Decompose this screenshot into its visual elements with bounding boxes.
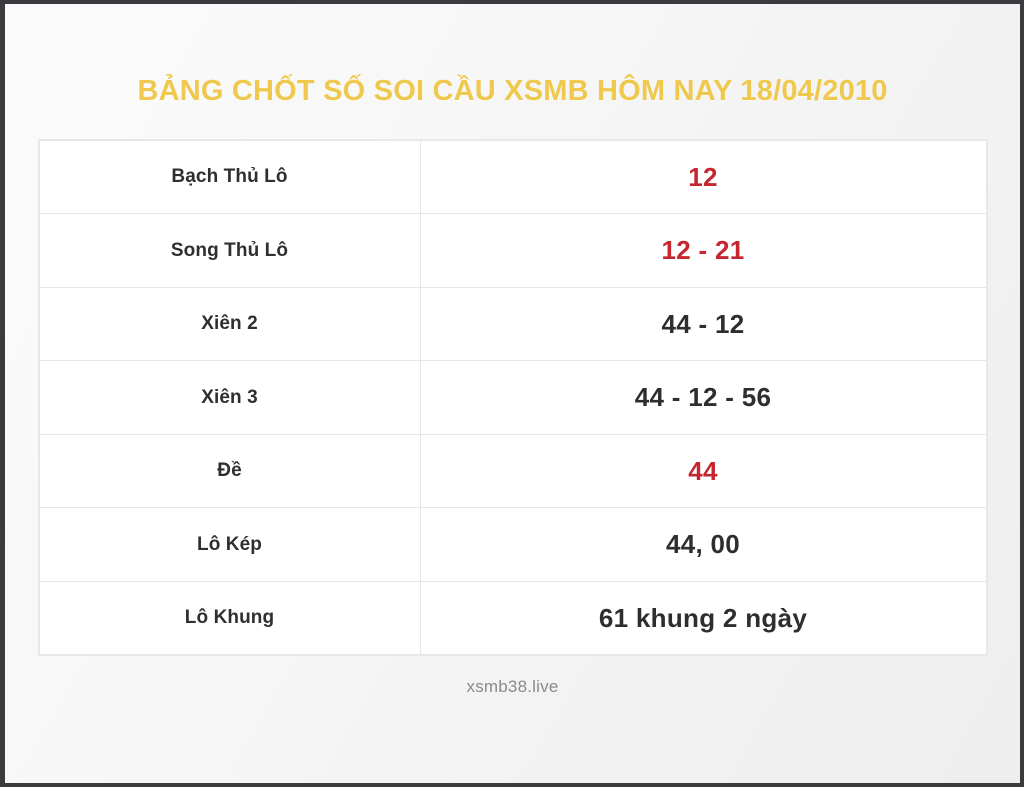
- prediction-table: Bạch Thủ Lô12Song Thủ Lô12 - 21Xiên 244 …: [39, 140, 987, 656]
- bet-type-label: Bạch Thủ Lô: [39, 140, 420, 214]
- bet-number-value: 44 - 12 - 56: [420, 361, 986, 435]
- bet-type-label: Đề: [39, 434, 420, 508]
- table-row: Lô Khung61 khung 2 ngày: [39, 581, 986, 655]
- table-row: Song Thủ Lô12 - 21: [39, 214, 986, 288]
- bet-number-value: 44 - 12: [420, 287, 986, 361]
- bet-number-value: 61 khung 2 ngày: [420, 581, 986, 655]
- site-watermark: xsmb38.live: [467, 677, 559, 697]
- bet-number-value: 12: [420, 140, 986, 214]
- prediction-table-body: Bạch Thủ Lô12Song Thủ Lô12 - 21Xiên 244 …: [39, 140, 986, 655]
- prediction-table-wrapper: Bạch Thủ Lô12Song Thủ Lô12 - 21Xiên 244 …: [39, 140, 987, 656]
- table-row: Lô Kép44, 00: [39, 508, 986, 582]
- bet-type-label: Xiên 2: [39, 287, 420, 361]
- bet-number-value: 44, 00: [420, 508, 986, 582]
- table-row: Xiên 344 - 12 - 56: [39, 361, 986, 435]
- bet-type-label: Song Thủ Lô: [39, 214, 420, 288]
- bet-type-label: Lô Khung: [39, 581, 420, 655]
- bet-number-value: 44: [420, 434, 986, 508]
- bet-number-value: 12 - 21: [420, 214, 986, 288]
- bet-type-label: Xiên 3: [39, 361, 420, 435]
- table-row: Bạch Thủ Lô12: [39, 140, 986, 214]
- lottery-prediction-card: BẢNG CHỐT SỐ SOI CẦU XSMB HÔM NAY 18/04/…: [0, 0, 1024, 787]
- table-row: Đề44: [39, 434, 986, 508]
- page-title: BẢNG CHỐT SỐ SOI CẦU XSMB HÔM NAY 18/04/…: [137, 76, 887, 108]
- bet-type-label: Lô Kép: [39, 508, 420, 582]
- table-row: Xiên 244 - 12: [39, 287, 986, 361]
